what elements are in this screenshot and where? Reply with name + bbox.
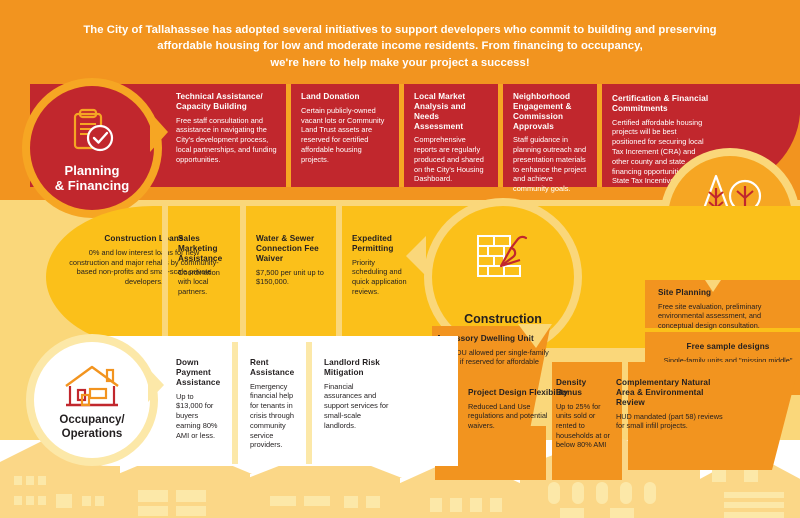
construction-divider-1 xyxy=(162,206,168,348)
planning-hub[interactable]: Planning & Financing xyxy=(30,86,154,210)
planning-card-land-donation[interactable]: Land Donation Certain publicly-owned vac… xyxy=(293,88,399,184)
house-icon xyxy=(62,364,122,412)
construction-card-sales-marketing[interactable]: Sales Marketing Assistance Coordination … xyxy=(170,212,240,344)
planning-divider-2 xyxy=(399,84,404,187)
headline-line-1: The City of Tallahassee has adopted seve… xyxy=(40,22,760,38)
card-body: Up to 25% for units sold or rented to ho… xyxy=(556,402,612,450)
occupancy-card-down-payment-assistance[interactable]: Down Payment Assistance Up to $13,000 fo… xyxy=(168,348,230,460)
occupancy-hub[interactable]: Occupancy/ Operations xyxy=(34,342,150,458)
card-body: Staff guidance in planning outreach and … xyxy=(513,135,589,194)
occupancy-hub-label: Occupancy/ Operations xyxy=(59,414,124,442)
planning-divider-4 xyxy=(597,84,602,187)
occupancy-divider-2 xyxy=(306,342,312,464)
card-body: $7,500 per unit up to $150,000. xyxy=(256,268,328,288)
planning-divider-1 xyxy=(286,84,291,187)
card-body: Certain publicly-owned vacant lots or Co… xyxy=(301,106,391,165)
card-body: Comprehensive reports are regularly prod… xyxy=(414,135,490,184)
occupancy-arrow-icon xyxy=(148,368,164,402)
planning-card-technical-assistance[interactable]: Technical Assistance/ Capacity Building … xyxy=(168,88,286,184)
card-title: Project Design Flexibility xyxy=(468,388,568,398)
infographic-canvas: The City of Tallahassee has adopted seve… xyxy=(0,0,800,518)
headline-line-2: affordable housing for low and moderate … xyxy=(40,38,760,54)
fan-card-natural-area-review[interactable]: Complementary Natural Area & Environment… xyxy=(616,378,724,431)
fan-card-density-bonus[interactable]: Density Bonus Up to 25% for units sold o… xyxy=(556,378,612,450)
card-title: Certification & Financial Commitments xyxy=(612,94,746,114)
card-title: Site Planning xyxy=(658,288,798,298)
card-body: Coordination with local partners. xyxy=(178,268,232,297)
card-body: Reduced Land Use regulations and potenti… xyxy=(468,402,568,431)
planning-arrow-icon xyxy=(150,112,168,152)
card-body: Emergency financial help for tenants in … xyxy=(250,382,296,450)
construction-card-water-sewer-waiver[interactable]: Water & Sewer Connection Fee Waiver $7,5… xyxy=(248,212,336,344)
occupancy-divider-1 xyxy=(232,342,238,464)
construction-divider-2 xyxy=(240,206,246,348)
card-title: Sales Marketing Assistance xyxy=(178,234,232,264)
card-title: Technical Assistance/ Capacity Building xyxy=(176,92,278,112)
card-title: Expedited Permitting xyxy=(352,234,412,254)
occupancy-card-rent-assistance[interactable]: Rent Assistance Emergency financial help… xyxy=(242,348,304,460)
card-title: Down Payment Assistance xyxy=(176,358,222,388)
occupancy-card-landlord-risk-mitigation[interactable]: Landlord Risk Mitigation Financial assur… xyxy=(316,348,398,460)
card-title: Landlord Risk Mitigation xyxy=(324,358,390,378)
clipboard-check-icon xyxy=(66,108,118,156)
headline: The City of Tallahassee has adopted seve… xyxy=(40,22,760,71)
planning-card-neighborhood-engagement[interactable]: Neighborhood Engagement & Commission App… xyxy=(505,88,597,184)
construction-divider-3 xyxy=(336,206,342,348)
headline-line-3: we're here to help make your project a s… xyxy=(40,55,760,71)
card-title: Land Donation xyxy=(301,92,391,102)
card-title: Water & Sewer Connection Fee Waiver xyxy=(256,234,328,264)
planning-hub-label: Planning & Financing xyxy=(55,163,129,194)
card-body: HUD mandated (part 58) reviews for small… xyxy=(616,412,724,431)
fan-card-project-design-flexibility[interactable]: Project Design Flexibility Reduced Land … xyxy=(468,388,568,431)
card-body: Free staff consultation and assistance i… xyxy=(176,116,278,165)
card-title: Rent Assistance xyxy=(250,358,296,378)
planning-card-local-market-analysis[interactable]: Local Market Analysis and Needs Assessme… xyxy=(406,88,498,184)
card-title: Density Bonus xyxy=(556,378,612,398)
card-title: Neighborhood Engagement & Commission App… xyxy=(513,92,589,131)
card-body: Up to $13,000 for buyers earning 80% AMI… xyxy=(176,392,222,441)
card-title: Complementary Natural Area & Environment… xyxy=(616,378,724,408)
brick-wall-trowel-icon xyxy=(474,232,532,288)
card-body: Priority scheduling and quick applicatio… xyxy=(352,258,412,297)
planning-divider-3 xyxy=(498,84,503,187)
card-title: Local Market Analysis and Needs Assessme… xyxy=(414,92,490,131)
card-body: Financial assurances and support service… xyxy=(324,382,390,431)
